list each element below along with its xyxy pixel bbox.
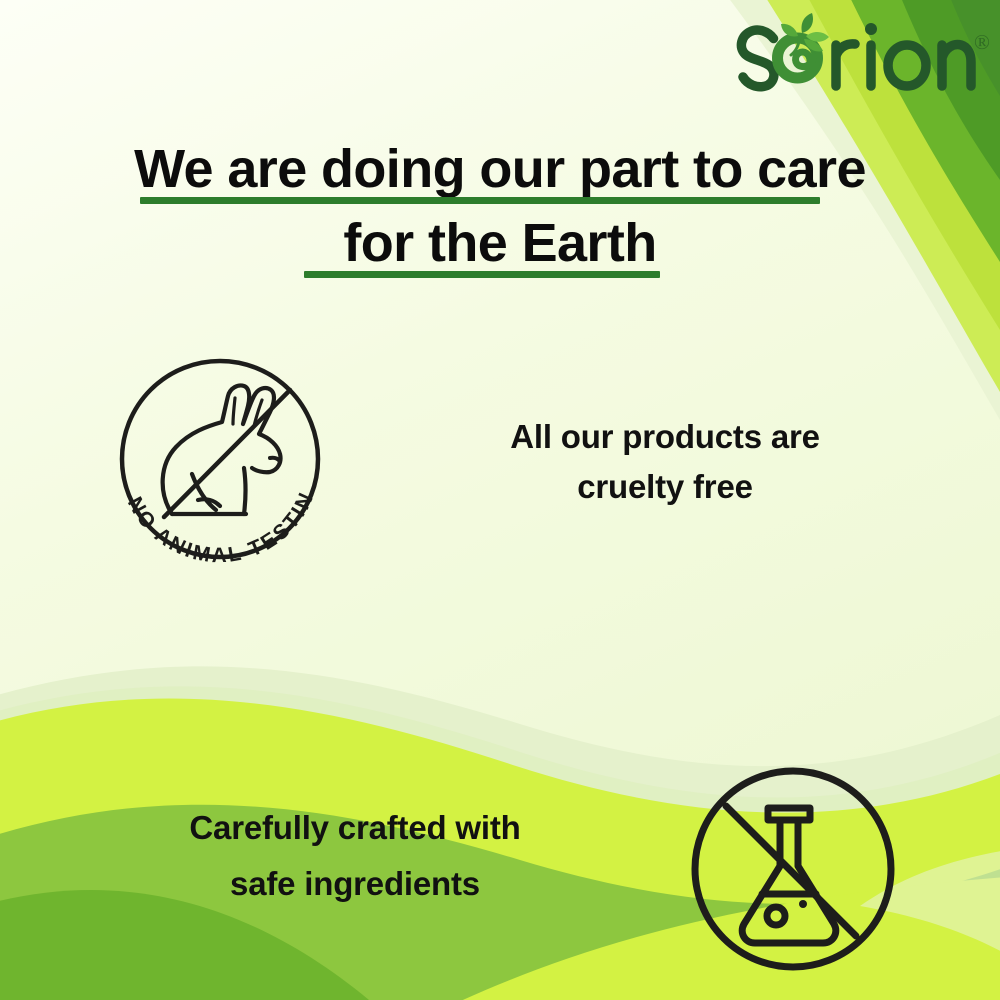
page-title: We are doing our part to care for the Ea…: [0, 132, 1000, 280]
no-animal-testing-caption: NO ANIMAL TESTING: [94, 342, 319, 567]
marketing-poster: ® We are doing our part to care for the …: [0, 0, 1000, 1000]
svg-text:NO ANIMAL TESTING: NO ANIMAL TESTING: [94, 342, 319, 567]
no-chemicals-flask-icon: [686, 762, 900, 976]
cruelty-free-line-1: All our products are: [430, 412, 900, 462]
safe-ingredients-line-2: safe ingredients: [110, 856, 600, 912]
safe-ingredients-line-1: Carefully crafted with: [110, 800, 600, 856]
no-animal-testing-icon: NO ANIMAL TESTING: [94, 342, 356, 598]
cruelty-free-line-2: cruelty free: [430, 462, 900, 512]
sorion-wordmark-icon: [726, 12, 994, 104]
brand-logo[interactable]: ®: [726, 12, 994, 104]
safe-ingredients-text: Carefully crafted with safe ingredients: [110, 800, 600, 912]
registered-trademark-symbol: ®: [974, 32, 990, 53]
headline-line-2: for the Earth: [0, 206, 1000, 280]
headline-underline-2: [304, 271, 660, 278]
poster-content: ® We are doing our part to care for the …: [0, 0, 1000, 1000]
cruelty-free-text: All our products are cruelty free: [430, 412, 900, 512]
headline-line-1: We are doing our part to care: [0, 132, 1000, 206]
headline-underline-1: [140, 197, 820, 204]
